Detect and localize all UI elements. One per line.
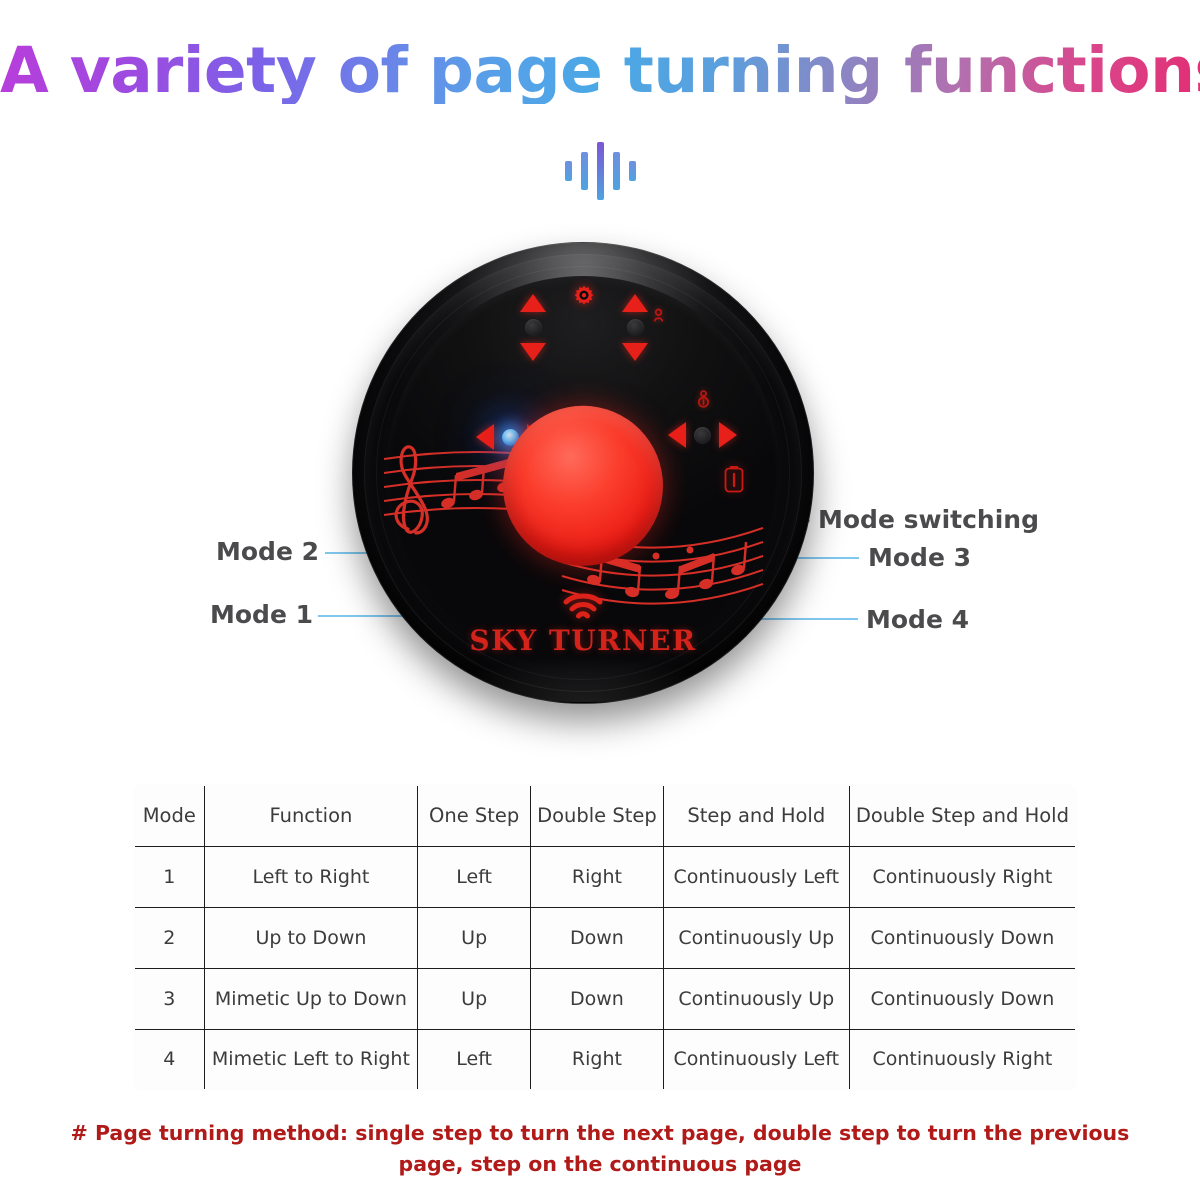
header-double-step: Double Step	[531, 785, 664, 846]
cell-mode: 3	[134, 968, 204, 1029]
brand-name: SKY TURNER	[469, 624, 696, 657]
table-row: 4 Mimetic Left to Right Left Right Conti…	[134, 1029, 1076, 1090]
table-row: 1 Left to Right Left Right Continuously …	[134, 846, 1076, 907]
cell-step-hold: Continuously Left	[663, 1029, 849, 1090]
cell-one-step: Left	[418, 846, 531, 907]
triangle-up-icon	[622, 294, 648, 312]
callout-label-mode-switching: Mode switching	[818, 505, 1039, 534]
sound-wave-icon	[0, 140, 1200, 202]
sky-turner-device: SKY TURNER	[352, 242, 814, 704]
header-mode: Mode	[134, 785, 204, 846]
cell-one-step: Up	[418, 907, 531, 968]
cell-one-step: Up	[418, 968, 531, 1029]
cell-double-hold: Continuously Down	[849, 907, 1076, 968]
main-page-turn-button[interactable]	[503, 406, 663, 566]
mode-function-table: Mode Function One Step Double Step Step …	[133, 784, 1077, 1091]
device-diagram: Mode 2 Mode 1 Mode switching Mode 3 Mode…	[0, 230, 1200, 750]
cell-function: Up to Down	[204, 907, 418, 968]
device-bottom-sheen	[435, 656, 731, 702]
cell-step-hold: Continuously Up	[663, 907, 849, 968]
wave-bar-3	[597, 142, 604, 200]
triangle-right-icon	[719, 422, 737, 448]
indicator-mode2[interactable]	[520, 294, 546, 361]
cell-mode: 4	[134, 1029, 204, 1090]
header-function: Function	[204, 785, 418, 846]
cell-function: Mimetic Left to Right	[204, 1029, 418, 1090]
led-mode4	[694, 427, 711, 444]
triangle-left-icon	[668, 422, 686, 448]
cell-double-step: Down	[531, 907, 664, 968]
header-one-step: One Step	[418, 785, 531, 846]
gear-icon[interactable]	[571, 284, 597, 310]
cell-double-step: Right	[531, 1029, 664, 1090]
table-header-row: Mode Function One Step Double Step Step …	[134, 785, 1076, 846]
wave-bar-2	[581, 152, 588, 190]
indicator-mode3[interactable]	[622, 294, 648, 361]
callout-label-mode2: Mode 2	[216, 537, 319, 566]
cell-step-hold: Continuously Left	[663, 846, 849, 907]
callout-label-mode4: Mode 4	[866, 605, 969, 634]
header-section: A variety of page turning functions	[0, 38, 1200, 104]
wifi-signal-icon	[562, 592, 604, 622]
cell-function: Left to Right	[204, 846, 418, 907]
led-mode2	[525, 319, 542, 336]
triangle-down-icon	[520, 343, 546, 361]
mode3-mini-icon	[652, 308, 665, 323]
callout-label-mode1: Mode 1	[210, 600, 313, 629]
cell-double-hold: Continuously Right	[849, 846, 1076, 907]
header-step-hold: Step and Hold	[663, 785, 849, 846]
mode4-mini-icon	[697, 390, 710, 409]
cell-one-step: Left	[418, 1029, 531, 1090]
battery-icon	[723, 464, 745, 494]
cell-step-hold: Continuously Up	[663, 968, 849, 1029]
cell-mode: 1	[134, 846, 204, 907]
wave-bar-5	[629, 161, 636, 181]
triangle-up-icon	[520, 294, 546, 312]
callout-label-mode3: Mode 3	[868, 543, 971, 572]
triangle-down-icon	[622, 343, 648, 361]
table-row: 2 Up to Down Up Down Continuously Up Con…	[134, 907, 1076, 968]
cell-function: Mimetic Up to Down	[204, 968, 418, 1029]
wave-bar-4	[613, 152, 620, 190]
cell-double-step: Right	[531, 846, 664, 907]
wave-bar-1	[565, 161, 572, 181]
footnote-text: # Page turning method: single step to tu…	[0, 1118, 1200, 1180]
cell-double-step: Down	[531, 968, 664, 1029]
cell-double-hold: Continuously Right	[849, 1029, 1076, 1090]
cell-double-hold: Continuously Down	[849, 968, 1076, 1029]
triangle-left-icon	[476, 424, 494, 450]
page-title: A variety of page turning functions	[0, 38, 1200, 104]
cell-mode: 2	[134, 907, 204, 968]
indicator-mode4[interactable]	[668, 422, 737, 448]
led-mode3	[627, 319, 644, 336]
table-row: 3 Mimetic Up to Down Up Down Continuousl…	[134, 968, 1076, 1029]
header-double-step-hold: Double Step and Hold	[849, 785, 1076, 846]
